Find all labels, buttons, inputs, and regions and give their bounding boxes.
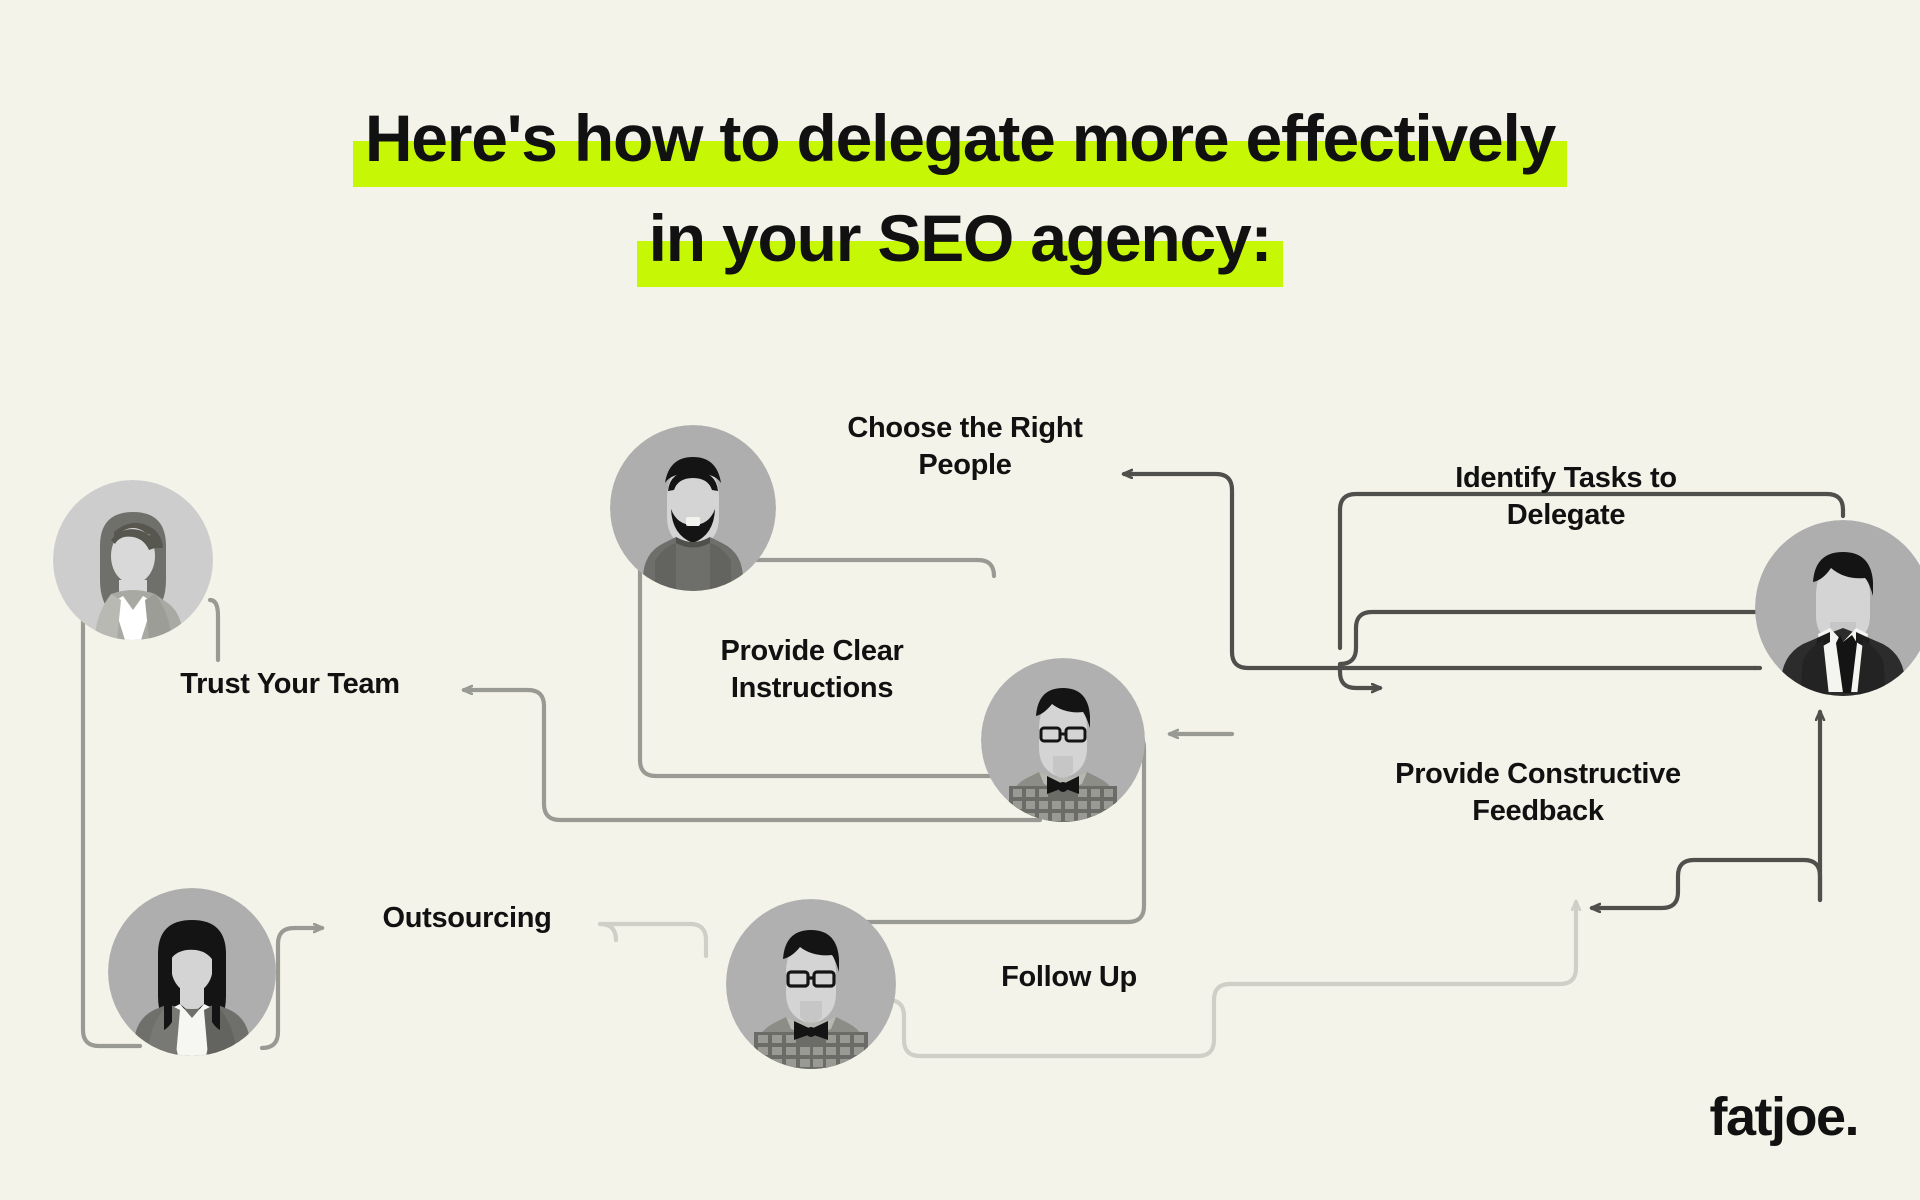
node-label-choose: Choose the Right People xyxy=(785,410,1145,484)
man-with-glasses-bowtie-avatar xyxy=(726,899,896,1069)
edge-to-trust-your-team xyxy=(464,690,1040,820)
node-label-followup: Follow Up xyxy=(934,959,1204,996)
infographic-canvas: Here's how to delegate more effectively … xyxy=(0,0,1920,1200)
page-title: Here's how to delegate more effectively … xyxy=(0,105,1920,271)
node-label-identify: Identify Tasks to Delegate xyxy=(1376,460,1756,534)
fatjoe-logo: fatjoe. xyxy=(1709,1086,1858,1148)
bearded-man-avatar xyxy=(610,425,776,591)
node-label-trust: Trust Your Team xyxy=(110,666,470,703)
title-line-1: Here's how to delegate more effectively xyxy=(0,105,1920,171)
woman-long-black-hair-avatar xyxy=(108,888,276,1056)
title-line-2-text: in your SEO agency: xyxy=(643,205,1278,271)
node-label-outsourcing: Outsourcing xyxy=(327,900,607,937)
woman-long-brown-hair-avatar xyxy=(53,480,213,640)
man-with-glasses-bowtie-avatar xyxy=(981,658,1145,822)
title-line-2: in your SEO agency: xyxy=(0,205,1920,271)
edge-suit-to-identify xyxy=(1340,612,1755,688)
node-label-instructions: Provide Clear Instructions xyxy=(642,633,982,707)
node-label-feedback: Provide Constructive Feedback xyxy=(1308,756,1768,830)
edge-feedback-inbound xyxy=(1592,860,1820,908)
edge-outsourcing-to-glasses xyxy=(600,924,706,956)
title-line-1-text: Here's how to delegate more effectively xyxy=(359,105,1561,171)
man-in-suit-avatar xyxy=(1755,520,1920,696)
